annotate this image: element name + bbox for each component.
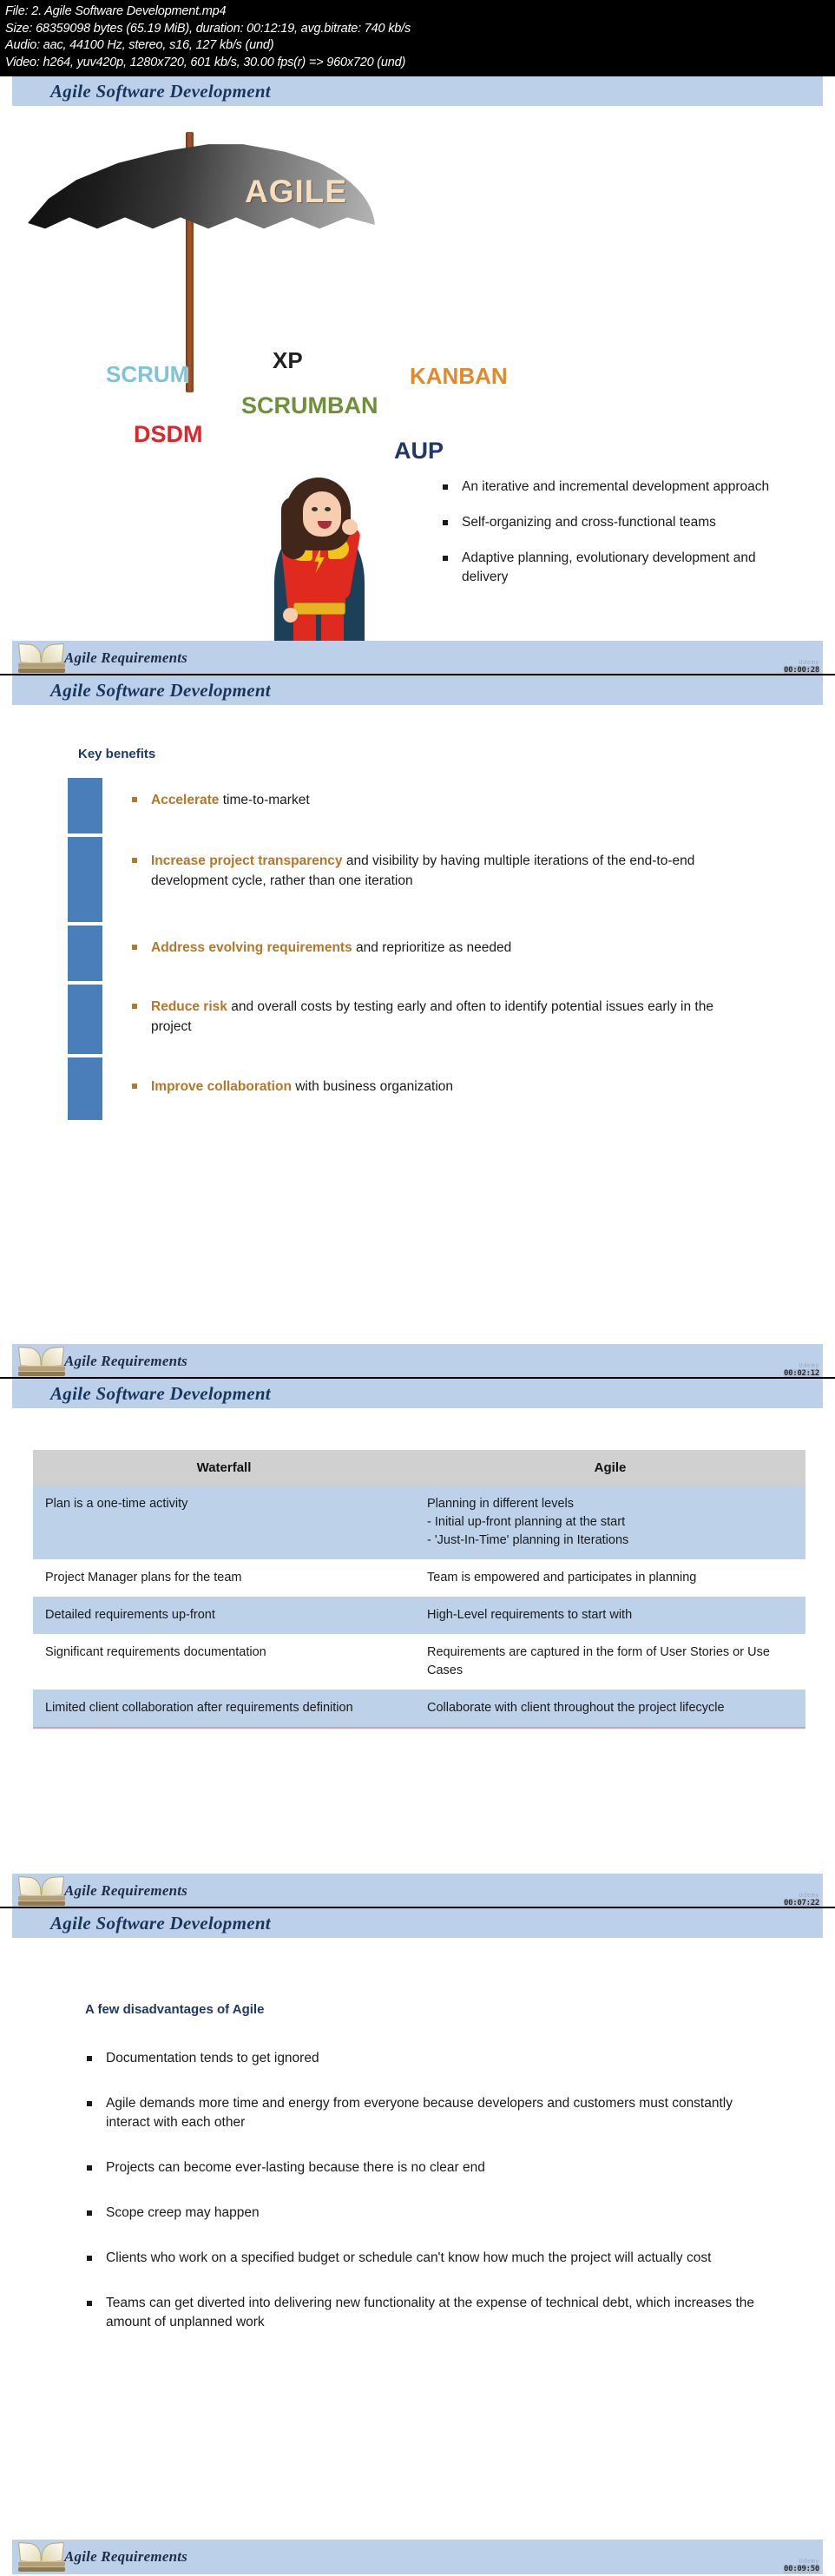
accent-bar: [68, 778, 102, 833]
table-row: Detailed requirements up-front High-Leve…: [33, 1597, 805, 1634]
list-item: Teams can get diverted into delivering n…: [85, 2294, 779, 2332]
slide-2-title: Agile Software Development: [12, 675, 823, 705]
list-item: Projects can become ever-lasting because…: [85, 2158, 779, 2177]
method-label-xp: XP: [273, 347, 303, 374]
cell-waterfall: Detailed requirements up-front: [33, 1597, 415, 1634]
accent-bar: [68, 1057, 102, 1120]
benefit-emphasis: Improve collaboration: [151, 1079, 292, 1094]
hero-right-eye: [325, 507, 331, 511]
slide-4: Agile Software Development A few disadva…: [0, 1908, 835, 2540]
brand-label: Udemy: [784, 1362, 819, 1369]
list-item: Reduce risk and overall costs by testing…: [130, 997, 738, 1037]
cell-waterfall: Limited client collaboration after requi…: [33, 1690, 415, 1728]
hero-left-eye: [312, 507, 318, 511]
list-item: Adaptive planning, evolutionary developm…: [441, 549, 805, 587]
slide-3-title: Agile Software Development: [12, 1379, 823, 1408]
table-header-row: Waterfall Agile: [33, 1450, 805, 1486]
method-label-dsdm: DSDM: [134, 421, 203, 448]
benefit-emphasis: Accelerate: [151, 793, 219, 807]
cell-waterfall: Significant requirements documentation: [33, 1634, 415, 1690]
list-item: Accelerate time-to-market: [130, 790, 738, 810]
benefit-emphasis: Increase project transparency: [151, 853, 343, 868]
slide-1-bullet-list: An iterative and incremental development…: [441, 478, 805, 603]
footer-label: Agile Requirements: [64, 1344, 187, 1379]
cell-agile: Team is empowered and participates in pl…: [415, 1559, 805, 1597]
list-item: Scope creep may happen: [85, 2204, 779, 2223]
column-header-waterfall: Waterfall: [33, 1450, 415, 1486]
accent-bar: [68, 837, 102, 922]
slide-1-title: Agile Software Development: [12, 76, 823, 106]
method-label-aup: AUP: [394, 438, 444, 464]
list-item: Agile demands more time and energy from …: [85, 2094, 779, 2132]
footer-label: Agile Requirements: [64, 641, 187, 675]
hero-face: [303, 491, 341, 537]
method-label-scrum: SCRUM: [106, 361, 188, 388]
footer-bar: Agile Requirements Udemy 00:09:50: [12, 2540, 823, 2574]
brand-label: Udemy: [784, 2558, 819, 2565]
benefit-emphasis: Address evolving requirements: [151, 940, 352, 955]
superhero-character-illustration: [264, 471, 375, 641]
list-item: Self-organizing and cross-functional tea…: [441, 513, 805, 532]
agile-umbrella-illustration: AGILE SCRUM XP KANBAN SCRUMBAN DSDM AUP: [12, 106, 446, 641]
cell-agile: Collaborate with client throughout the p…: [415, 1690, 805, 1728]
media-info-audio: Audio: aac, 44100 Hz, stereo, s16, 127 k…: [5, 37, 835, 55]
list-item: Improve collaboration with business orga…: [130, 1077, 738, 1097]
accent-bar: [68, 985, 102, 1054]
list-item: An iterative and incremental development…: [441, 478, 805, 497]
benefit-text: and overall costs by testing early and o…: [151, 999, 713, 1034]
media-info-video: Video: h264, yuv420p, 1280x720, 601 kb/s…: [5, 55, 835, 72]
cell-agile: Planning in different levels - Initial u…: [415, 1486, 805, 1559]
footer-watermark: Udemy 00:07:22: [784, 1892, 819, 1907]
list-item: Clients who work on a specified budget o…: [85, 2249, 779, 2268]
footer-watermark: Udemy 00:00:28: [784, 659, 819, 675]
list-item: Increase project transparency and visibi…: [130, 851, 755, 891]
slide-2: Agile Software Development Key benefits …: [0, 675, 835, 1344]
cell-agile: Requirements are captured in the form of…: [415, 1634, 805, 1690]
benefit-text: time-to-market: [219, 793, 309, 807]
footer-label: Agile Requirements: [64, 2540, 187, 2574]
table-row: Plan is a one-time activity Planning in …: [33, 1486, 805, 1559]
brand-label: Udemy: [784, 1892, 819, 1899]
table-row: Significant requirements documentation R…: [33, 1634, 805, 1690]
open-book-icon: [16, 1342, 69, 1380]
column-header-agile: Agile: [415, 1450, 805, 1486]
umbrella-label: AGILE: [245, 174, 347, 210]
hero-right-leg: [321, 613, 344, 641]
footer-label: Agile Requirements: [64, 1874, 187, 1908]
disadvantages-heading: A few disadvantages of Agile: [85, 2002, 264, 2017]
slide-1: Agile Software Development AGILE SCRUM X…: [0, 76, 835, 641]
waterfall-vs-agile-table: Waterfall Agile Plan is a one-time activ…: [33, 1450, 805, 1729]
benefit-emphasis: Reduce risk: [151, 999, 227, 1014]
accent-bar: [68, 926, 102, 981]
footer-strip-4: Agile Requirements Udemy 00:09:50: [0, 2540, 835, 2574]
open-book-icon: [16, 2538, 69, 2576]
list-item: Documentation tends to get ignored: [85, 2049, 779, 2068]
media-info-size: Size: 68359098 bytes (65.19 MiB), durati…: [5, 21, 835, 38]
list-item: Address evolving requirements and reprio…: [130, 938, 755, 958]
footer-watermark: Udemy 00:02:12: [784, 1362, 819, 1378]
slide-3: Agile Software Development Waterfall Agi…: [0, 1379, 835, 1874]
brand-label: Udemy: [784, 659, 819, 666]
video-timestamp: 00:09:50: [784, 2565, 819, 2573]
footer-bar: Agile Requirements Udemy 00:07:22: [12, 1874, 823, 1908]
hero-right-hand: [342, 519, 358, 535]
benefit-text: with business organization: [292, 1079, 453, 1094]
method-label-scrumban: SCRUMBAN: [241, 392, 378, 419]
table-row: Limited client collaboration after requi…: [33, 1690, 805, 1728]
footer-strip-3: Agile Requirements Udemy 00:07:22: [0, 1874, 835, 1908]
method-label-kanban: KANBAN: [410, 363, 508, 390]
footer-bar: Agile Requirements Udemy 00:02:12: [12, 1344, 823, 1379]
hero-belt: [293, 603, 345, 615]
media-info-file: File: 2. Agile Software Development.mp4: [5, 3, 835, 21]
cell-waterfall: Plan is a one-time activity: [33, 1486, 415, 1559]
footer-strip-2: Agile Requirements Udemy 00:02:12: [0, 1344, 835, 1379]
open-book-icon: [16, 639, 69, 677]
footer-bar: Agile Requirements Udemy 00:00:28: [12, 641, 823, 675]
media-info-header: File: 2. Agile Software Development.mp4 …: [0, 0, 835, 76]
cell-waterfall: Project Manager plans for the team: [33, 1559, 415, 1597]
hero-left-hand: [283, 608, 298, 623]
table-row: Project Manager plans for the team Team …: [33, 1559, 805, 1597]
cell-agile: High-Level requirements to start with: [415, 1597, 805, 1634]
disadvantages-list: Documentation tends to get ignored Agile…: [85, 2049, 779, 2358]
benefit-text: and reprioritize as needed: [352, 940, 512, 955]
key-benefits-heading: Key benefits: [78, 747, 155, 761]
open-book-icon: [16, 1872, 69, 1910]
footer-strip-1: Agile Requirements Udemy 00:00:28: [0, 641, 835, 675]
slide-4-title: Agile Software Development: [12, 1908, 823, 1938]
footer-watermark: Udemy 00:09:50: [784, 2558, 819, 2573]
